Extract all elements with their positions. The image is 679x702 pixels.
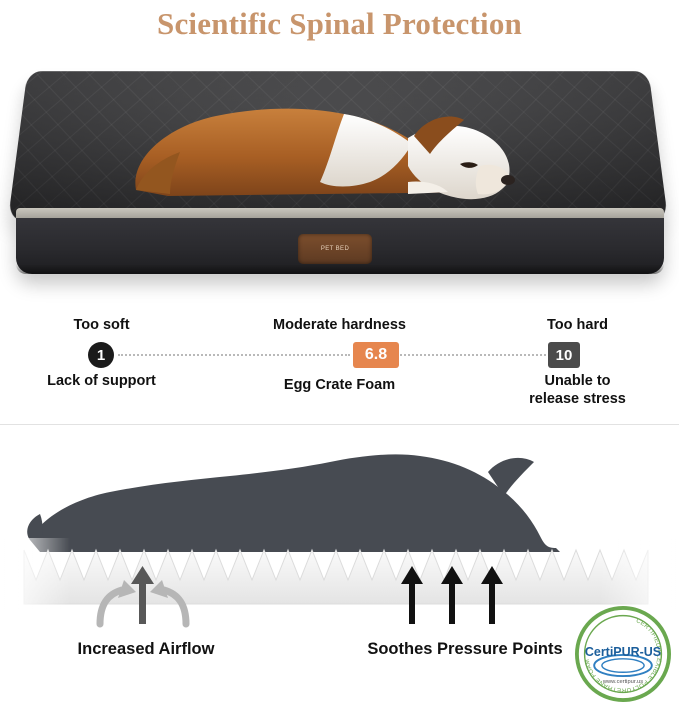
certipur-title: CertiPUR-US: [585, 645, 661, 659]
scale-sub-hard: Unable to release stress: [490, 372, 665, 408]
scale-sub-soft: Lack of support: [14, 372, 189, 390]
caption-increased-airflow: Increased Airflow: [24, 640, 268, 659]
scale-label-moderate: Moderate hardness: [252, 316, 427, 334]
scale-value-68: 6.8: [353, 342, 399, 368]
certipur-url: www.certipur.us: [602, 679, 643, 685]
certipur-us-badge: CERTIFIED FLEXIBLE POLYURETHANE FOAM Cer…: [575, 606, 671, 702]
brand-tag: PET BED: [298, 234, 372, 264]
product-photo: PET BED: [0, 48, 679, 296]
dog-photo-illustration: [108, 62, 528, 222]
egg-crate-foam-layer: [24, 550, 648, 604]
scale-sub-moderate: Egg Crate Foam: [252, 376, 427, 394]
scale-sub-hard-line1: Unable to: [490, 372, 665, 390]
scale-value-10: 10: [548, 342, 580, 368]
section-divider: [0, 424, 679, 425]
scale-dotted-line-left: [118, 354, 350, 358]
hardness-scale: Too soft Moderate hardness Too hard 1 6.…: [0, 300, 679, 418]
foam-cross-section-diagram: Increased Airflow Soothes Pressure Point…: [0, 428, 679, 686]
caption-soothes-pressure-points: Soothes Pressure Points: [340, 640, 590, 659]
page-title: Scientific Spinal Protection: [0, 0, 679, 48]
scale-label-hard: Too hard: [490, 316, 665, 334]
scale-sub-hard-line2: release stress: [490, 390, 665, 408]
scale-label-soft: Too soft: [14, 316, 189, 334]
scale-value-1: 1: [88, 342, 114, 368]
dog-bed-illustration: PET BED: [8, 58, 671, 296]
